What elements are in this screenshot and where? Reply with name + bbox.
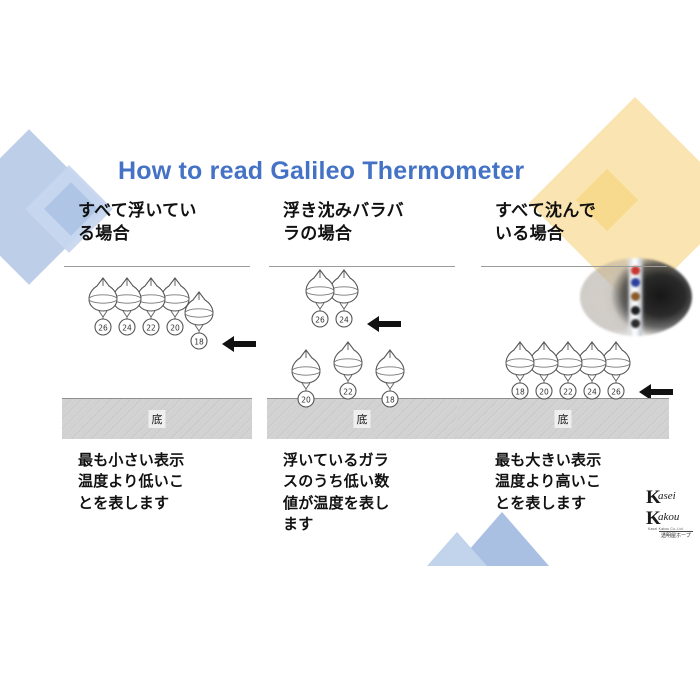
column-heading: すべて浮いている場合 <box>78 200 243 245</box>
column-heading-line-1: る場合 <box>78 223 243 246</box>
case-column-mixed: 浮き沈みバラバラの場合2624202218底浮いているガラスのうち低い数値が温度… <box>283 200 483 245</box>
svg-text:26: 26 <box>611 387 621 396</box>
column-divider <box>269 266 455 267</box>
svg-text:18: 18 <box>385 395 395 404</box>
column-divider <box>481 266 667 267</box>
svg-text:24: 24 <box>122 323 132 332</box>
column-heading-line-1: いる場合 <box>495 223 660 246</box>
decor-blue-triangle-small <box>427 532 487 566</box>
svg-text:26: 26 <box>315 315 325 324</box>
column-caption-line-2: とを表します <box>78 493 230 514</box>
column-caption: 浮いているガラスのうち低い数値が温度を表します <box>283 450 435 535</box>
column-heading-line-1: ラの場合 <box>283 223 448 246</box>
decor-blue-triangle-large <box>455 512 549 566</box>
sunken-bulb-20: 20 <box>289 348 323 410</box>
page-title: How to read Galileo Thermometer <box>118 157 524 186</box>
column-caption-line-1: 温度より高いこ <box>495 471 647 492</box>
column-caption-line-1: 温度より低いこ <box>78 471 230 492</box>
case-column-all-sunken: すべて沈んでいる場合1820222426底最も大きい表示温度より高いことを表しま… <box>495 200 695 245</box>
svg-text:26: 26 <box>98 323 108 332</box>
svg-text:22: 22 <box>146 323 156 332</box>
column-heading-line-0: すべて沈んで <box>495 200 660 223</box>
galileo-thermometer-photo <box>580 258 692 336</box>
arrow-shaft <box>649 389 673 395</box>
arrow-shaft <box>377 321 401 327</box>
sunken-bulb-18: 18 <box>373 348 407 410</box>
ground-label: 底 <box>354 410 371 428</box>
sunken-bulb-group: 1820222426 <box>495 340 700 410</box>
svg-text:18: 18 <box>515 387 525 396</box>
column-heading: 浮き沈みバラバラの場合 <box>283 200 448 245</box>
column-caption-line-0: 最も大きい表示 <box>495 450 647 471</box>
photo-float-red <box>631 266 640 275</box>
slide-canvas: How to read Galileo Thermometer すべて浮いている… <box>0 0 700 700</box>
svg-text:20: 20 <box>301 395 311 404</box>
arrow-floating <box>367 316 401 332</box>
svg-text:20: 20 <box>170 323 180 332</box>
column-caption-line-2: 値が温度を表し <box>283 493 435 514</box>
column-heading-line-0: 浮き沈みバラバ <box>283 200 448 223</box>
column-heading-line-0: すべて浮いてい <box>78 200 243 223</box>
column-caption: 最も小さい表示温度より低いことを表します <box>78 450 230 514</box>
photo-float-dark-2 <box>631 319 640 328</box>
column-caption-line-0: 浮いているガラ <box>283 450 435 471</box>
logo-word-2: akou <box>658 511 679 523</box>
sunken-bulb-18: 18 <box>503 340 537 402</box>
arrow-shaft <box>232 341 256 347</box>
svg-text:22: 22 <box>563 387 573 396</box>
svg-text:24: 24 <box>587 387 597 396</box>
float-bulb-26: 26 <box>86 276 120 338</box>
arrow-floating <box>222 336 256 352</box>
svg-text:18: 18 <box>194 337 204 346</box>
case-column-all-floating: すべて浮いている場合2624222018底最も小さい表示温度より低いことを表しま… <box>78 200 278 245</box>
column-caption-line-1: スのうち低い数 <box>283 471 435 492</box>
column-caption-line-2: とを表します <box>495 493 647 514</box>
column-caption-line-3: ます <box>283 514 435 535</box>
column-caption: 最も大きい表示温度より高いことを表します <box>495 450 647 514</box>
sunken-bulb-22: 22 <box>331 340 365 402</box>
ground-label: 底 <box>555 410 572 428</box>
floating-bulb-group: 2624 <box>283 268 483 348</box>
svg-text:20: 20 <box>539 387 549 396</box>
float-bulb-26: 26 <box>303 268 337 330</box>
ground-band: 底 <box>457 398 669 439</box>
ground-label: 底 <box>149 410 166 428</box>
column-divider <box>64 266 250 267</box>
svg-text:24: 24 <box>339 315 349 324</box>
svg-text:22: 22 <box>343 387 353 396</box>
column-caption-line-0: 最も小さい表示 <box>78 450 230 471</box>
brand-logo: K asei K akou Kasei Kakou Co.,Ltd. 透明屋ホー… <box>645 487 697 541</box>
floating-bulb-group: 2624222018 <box>78 276 278 356</box>
logo-word-1: asei <box>658 490 676 502</box>
column-heading: すべて沈んでいる場合 <box>495 200 660 245</box>
logo-jp-text: 透明屋ホープ <box>661 532 691 539</box>
ground-band: 底 <box>62 398 252 439</box>
